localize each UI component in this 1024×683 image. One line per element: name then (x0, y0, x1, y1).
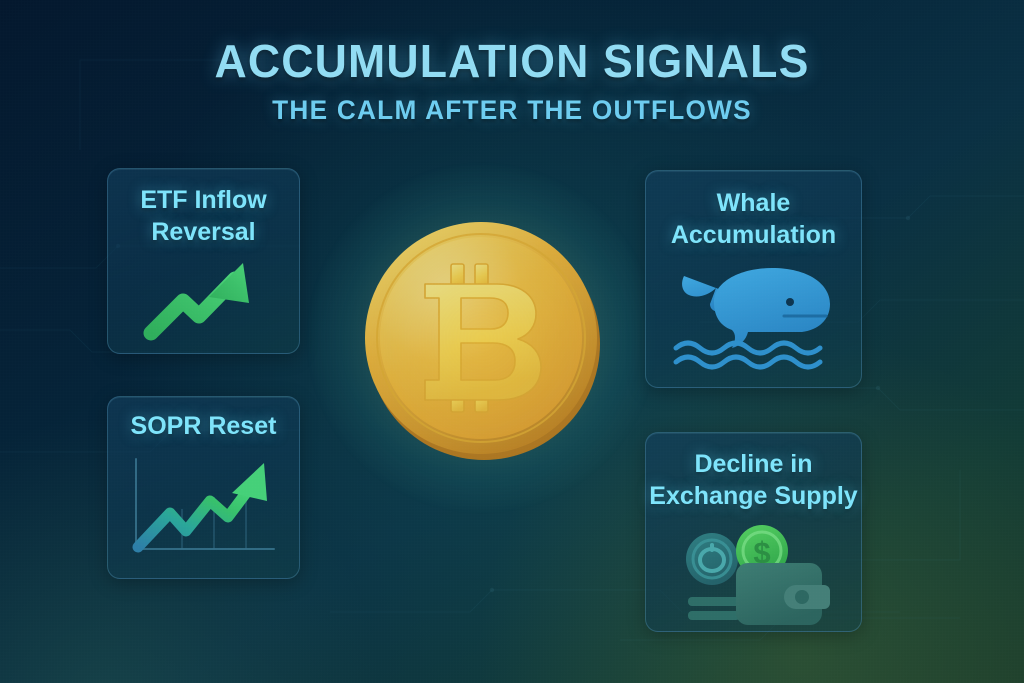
card-label: Decline in Exchange Supply (649, 449, 857, 513)
whale-icon (670, 260, 838, 372)
card-etf-inflow-reversal[interactable]: ETF Inflow Reversal (107, 168, 300, 354)
page-subtitle: THE CALM AFTER THE OUTFLOWS (15, 95, 1008, 126)
card-label: ETF Inflow Reversal (140, 185, 266, 249)
card-decline-exchange-supply[interactable]: Decline in Exchange Supply (645, 432, 862, 632)
infographic-poster: ACCUMULATION SIGNALS THE CALM AFTER THE … (0, 0, 1024, 683)
card-whale-accumulation[interactable]: Whale Accumulation (645, 170, 862, 388)
coin-glow-decoration (310, 166, 654, 510)
card-label: Whale Accumulation (671, 188, 836, 252)
page-title: ACCUMULATION SIGNALS (15, 34, 1008, 88)
card-sopr-reset[interactable]: SOPR Reset (107, 396, 300, 579)
trending-up-arrow-icon (139, 255, 269, 343)
wallet-coins-icon: $ (678, 519, 830, 629)
bitcoin-coin (362, 216, 602, 464)
line-chart-arrow-icon (124, 453, 284, 561)
card-label: SOPR Reset (131, 411, 277, 443)
